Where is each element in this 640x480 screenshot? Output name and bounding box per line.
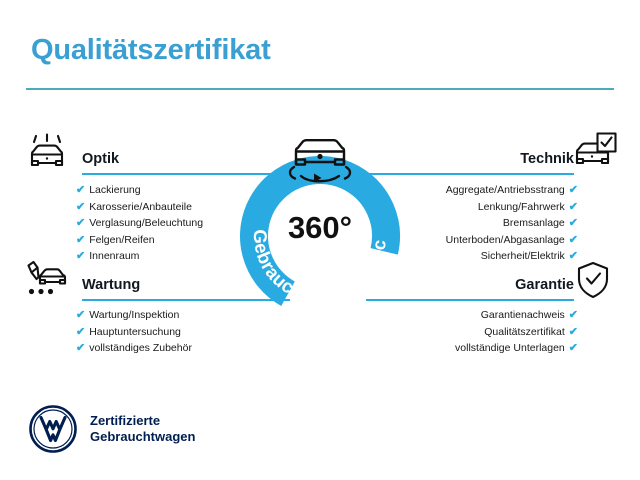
list-item: Lenkung/Fahrwerk✔ <box>446 199 578 216</box>
list-wartung: ✔Wartung/Inspektion ✔Hauptuntersuchung ✔… <box>76 307 192 357</box>
list-item-label: Garantienachweis <box>481 309 565 321</box>
page-title: Qualitätszertifikat <box>31 34 271 67</box>
list-item-label: Hauptuntersuchung <box>89 326 181 338</box>
footer-brand-text: Zertifizierte Gebrauchtwagen <box>90 413 195 445</box>
vw-logo <box>28 404 78 454</box>
check-icon: ✔ <box>569 217 578 229</box>
list-item: ✔Verglasung/Beleuchtung <box>76 215 203 232</box>
list-item: Unterboden/Abgasanlage✔ <box>446 232 578 249</box>
check-icon: ✔ <box>569 201 578 213</box>
check-icon: ✔ <box>569 309 578 321</box>
check-icon: ✔ <box>76 342 85 354</box>
check-icon: ✔ <box>76 217 85 229</box>
check-icon: ✔ <box>569 326 578 338</box>
list-optik: ✔Lackierung ✔Karosserie/Anbauteile ✔Verg… <box>76 182 203 265</box>
list-item-label: Sicherheit/Elektrik <box>481 250 565 262</box>
list-item-label: vollständige Unterlagen <box>455 342 565 354</box>
list-technik: Aggregate/Antriebsstrang✔ Lenkung/Fahrwe… <box>446 182 578 265</box>
list-garantie: Garantienachweis✔ Qualitätszertifikat✔ v… <box>455 307 578 357</box>
footer-line-2: Gebrauchtwagen <box>90 429 195 445</box>
car-checkbox-icon <box>572 131 618 173</box>
car-rotation-icon <box>283 126 357 188</box>
car-shine-icon <box>24 133 70 175</box>
list-item-label: Wartung/Inspektion <box>89 309 179 321</box>
list-item-label: Aggregate/Antriebsstrang <box>446 184 565 196</box>
list-item: Sicherheit/Elektrik✔ <box>446 248 578 265</box>
check-icon: ✔ <box>569 342 578 354</box>
title-divider <box>26 88 614 90</box>
car-service-pen-icon <box>24 259 70 301</box>
list-item: Qualitätszertifikat✔ <box>455 324 578 341</box>
list-item: ✔Innenraum <box>76 248 203 265</box>
list-item-label: Bremsanlage <box>503 217 565 229</box>
check-icon: ✔ <box>76 234 85 246</box>
list-item-label: Lenkung/Fahrwerk <box>478 201 565 213</box>
list-item: ✔Lackierung <box>76 182 203 199</box>
check-icon: ✔ <box>76 309 85 321</box>
list-item: ✔vollständiges Zubehör <box>76 340 192 357</box>
list-item-label: Verglasung/Beleuchtung <box>89 217 203 229</box>
badge-center-label: 360° <box>236 210 404 246</box>
list-item-label: Qualitätszertifikat <box>484 326 565 338</box>
list-item: vollständige Unterlagen✔ <box>455 340 578 357</box>
list-item: Aggregate/Antriebsstrang✔ <box>446 182 578 199</box>
list-item-label: Karosserie/Anbauteile <box>89 201 192 213</box>
check-icon: ✔ <box>76 326 85 338</box>
shield-check-icon <box>570 259 616 301</box>
list-item: Bremsanlage✔ <box>446 215 578 232</box>
section-heading-garantie: Garantie <box>515 277 574 293</box>
footer-line-1: Zertifizierte <box>90 413 195 429</box>
list-item-label: Unterboden/Abgasanlage <box>446 234 565 246</box>
list-item: ✔Hauptuntersuchung <box>76 324 192 341</box>
check-icon: ✔ <box>569 184 578 196</box>
list-item-label: Innenraum <box>89 250 139 262</box>
certificate-page: Qualitätszertifikat Optik ✔Lackierung ✔K… <box>0 0 640 480</box>
section-heading-technik: Technik <box>520 151 574 167</box>
check-icon: ✔ <box>76 250 85 262</box>
list-item: Garantienachweis✔ <box>455 307 578 324</box>
check-icon: ✔ <box>76 201 85 213</box>
check-icon: ✔ <box>76 184 85 196</box>
section-heading-wartung: Wartung <box>82 277 140 293</box>
list-item: ✔Felgen/Reifen <box>76 232 203 249</box>
list-item: ✔Karosserie/Anbauteile <box>76 199 203 216</box>
footer-brand: Zertifizierte Gebrauchtwagen <box>28 404 195 454</box>
list-item-label: vollständiges Zubehör <box>89 342 192 354</box>
list-item-label: Felgen/Reifen <box>89 234 154 246</box>
list-item-label: Lackierung <box>89 184 140 196</box>
check-icon: ✔ <box>569 234 578 246</box>
list-item: ✔Wartung/Inspektion <box>76 307 192 324</box>
section-heading-optik: Optik <box>82 151 119 167</box>
